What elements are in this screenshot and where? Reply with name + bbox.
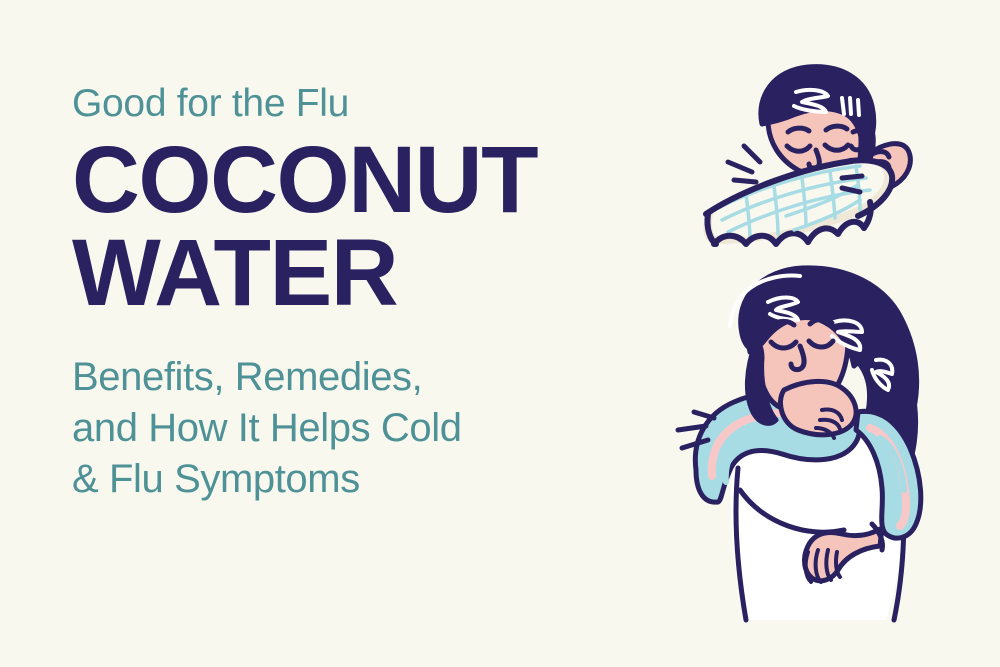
man-coughing-icon <box>690 58 1000 278</box>
page-title: COCONUT WATER <box>72 137 666 318</box>
subtitle-line-2: and How It Helps Cold <box>72 403 672 454</box>
headline-line-2: WATER <box>72 230 666 317</box>
eyebrow-text: Good for the Flu <box>72 84 672 125</box>
poster-canvas: Good for the Flu COCONUT WATER Benefits,… <box>0 0 1000 667</box>
subtitle-line-3: & Flu Symptoms <box>72 454 672 505</box>
subtitle-text: Benefits, Remedies, and How It Helps Col… <box>72 352 672 506</box>
man-coughing-illustration <box>690 58 1000 278</box>
headline-text-block: Good for the Flu COCONUT WATER Benefits,… <box>72 84 672 505</box>
woman-coughing-icon <box>672 262 1000 627</box>
headline-line-1: COCONUT <box>72 137 666 224</box>
subtitle-line-1: Benefits, Remedies, <box>72 352 672 403</box>
woman-coughing-illustration <box>672 262 1000 627</box>
